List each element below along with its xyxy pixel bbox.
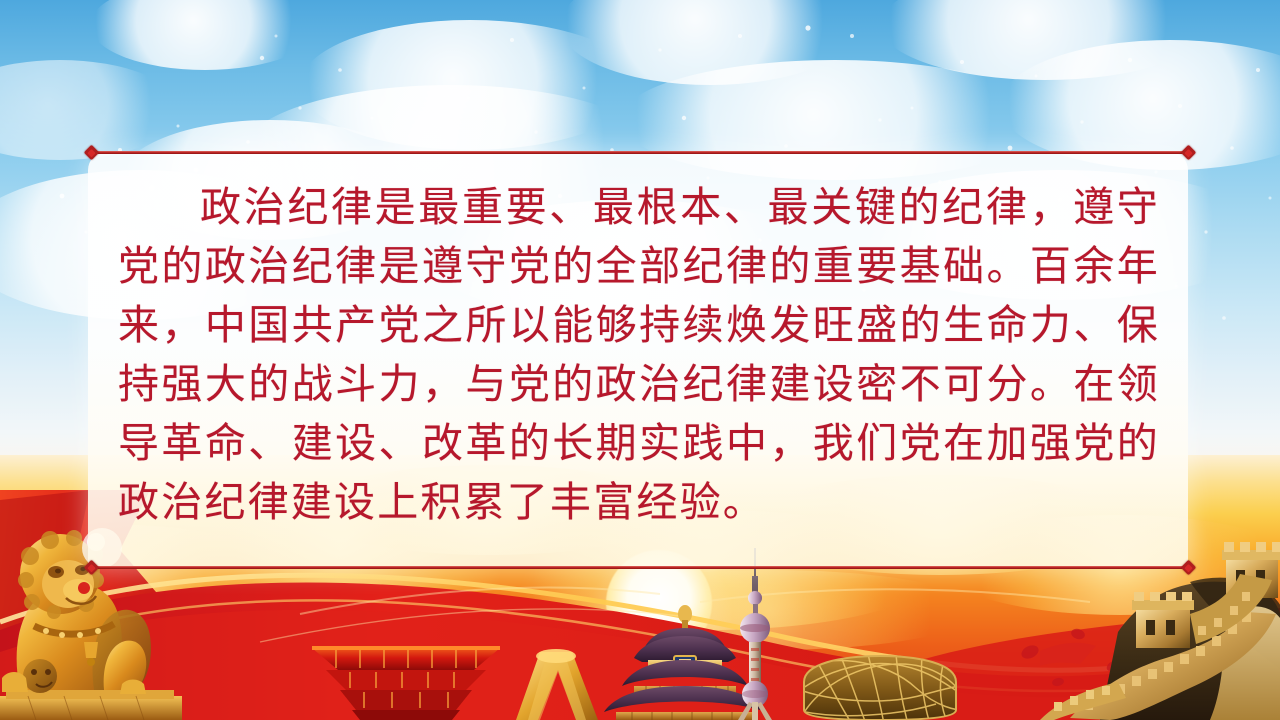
slide-canvas: 政治纪律是最重要、最根本、最关键的纪律，遵守党的政治纪律是遵守党的全部纪律的重要… [0,0,1280,720]
panel-top-rule [92,151,1184,154]
slide-body-text: 政治纪律是最重要、最根本、最关键的纪律，遵守党的政治纪律是遵守党的全部纪律的重要… [118,178,1160,532]
panel-bottom-rule [92,566,1184,569]
